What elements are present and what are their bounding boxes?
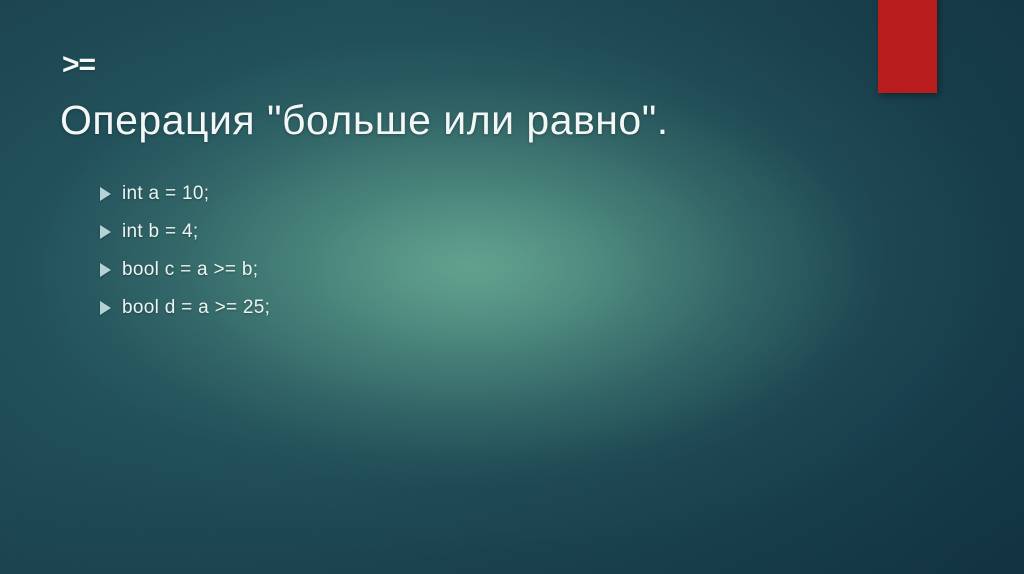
- slide-title: Операция "больше или равно".: [60, 99, 669, 142]
- list-item-label: int b = 4;: [122, 221, 198, 243]
- presentation-slide: >= Операция "больше или равно". int a = …: [0, 0, 1024, 574]
- list-item: int a = 10;: [100, 175, 270, 213]
- list-item-label: bool c = a >= b;: [122, 259, 258, 281]
- operator-heading: >=: [62, 50, 95, 80]
- red-accent-block: [878, 0, 937, 93]
- list-item: int b = 4;: [100, 213, 270, 251]
- code-bullet-list: int a = 10; int b = 4; bool c = a >= b; …: [100, 175, 270, 327]
- list-item: bool c = a >= b;: [100, 251, 270, 289]
- triangle-bullet-icon: [100, 225, 122, 239]
- triangle-bullet-icon: [100, 263, 122, 277]
- list-item-label: int a = 10;: [122, 183, 209, 205]
- triangle-bullet-icon: [100, 301, 122, 315]
- triangle-bullet-icon: [100, 187, 122, 201]
- list-item: bool d = a >= 25;: [100, 289, 270, 327]
- list-item-label: bool d = a >= 25;: [122, 297, 270, 319]
